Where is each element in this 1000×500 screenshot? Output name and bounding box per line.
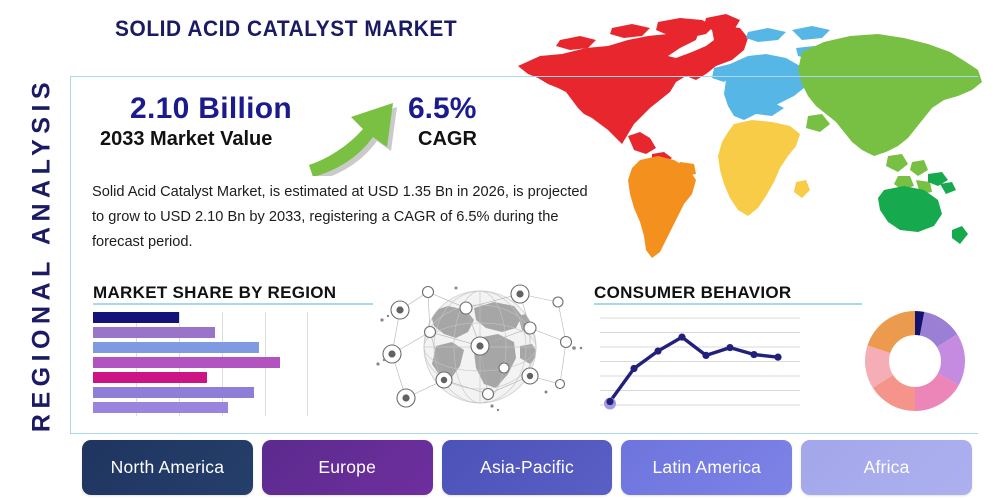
table-row [93,402,228,413]
region-button-group[interactable]: North America Europe Asia-Pacific Latin … [82,440,972,495]
region-button-asia-pacific[interactable]: Asia-Pacific [442,440,613,495]
kpi-block: 2.10 Billion 2033 Market Value 6.5% CAGR [88,92,508,172]
cagr-label: CAGR [418,128,477,151]
global-network-globe-icon [370,272,590,422]
consumer-behavior-rule [594,303,862,305]
region-button-latin-america[interactable]: Latin America [621,440,792,495]
region-button-africa[interactable]: Africa [801,440,972,495]
vertical-section-label: REGIONAL ANALYSIS [28,65,57,445]
table-row [93,372,207,383]
table-row [93,357,280,368]
region-button-europe[interactable]: Europe [262,440,433,495]
market-share-rule [93,303,373,305]
table-row [93,312,179,323]
page-title: SOLID ACID CATALYST MARKET [115,16,457,42]
table-row [93,387,254,398]
market-share-bar-chart [93,312,308,416]
table-row [93,327,215,338]
market-share-heading: MARKET SHARE BY REGION [93,283,336,303]
table-row [93,342,259,353]
market-description: Solid Acid Catalyst Market, is estimated… [92,180,592,255]
market-value-number: 2.10 Billion [130,92,292,126]
growth-arrow-up-icon [303,84,413,176]
market-value-label: 2033 Market Value [100,128,272,151]
segment-donut-chart [862,308,968,414]
consumer-behavior-heading: CONSUMER BEHAVIOR [594,283,791,303]
consumer-behavior-line-chart [600,310,800,415]
infographic-root: REGIONAL ANALYSIS SOLID ACID CATALYST MA… [0,0,1000,500]
region-button-north-america[interactable]: North America [82,440,253,495]
cagr-number: 6.5% [408,92,476,126]
